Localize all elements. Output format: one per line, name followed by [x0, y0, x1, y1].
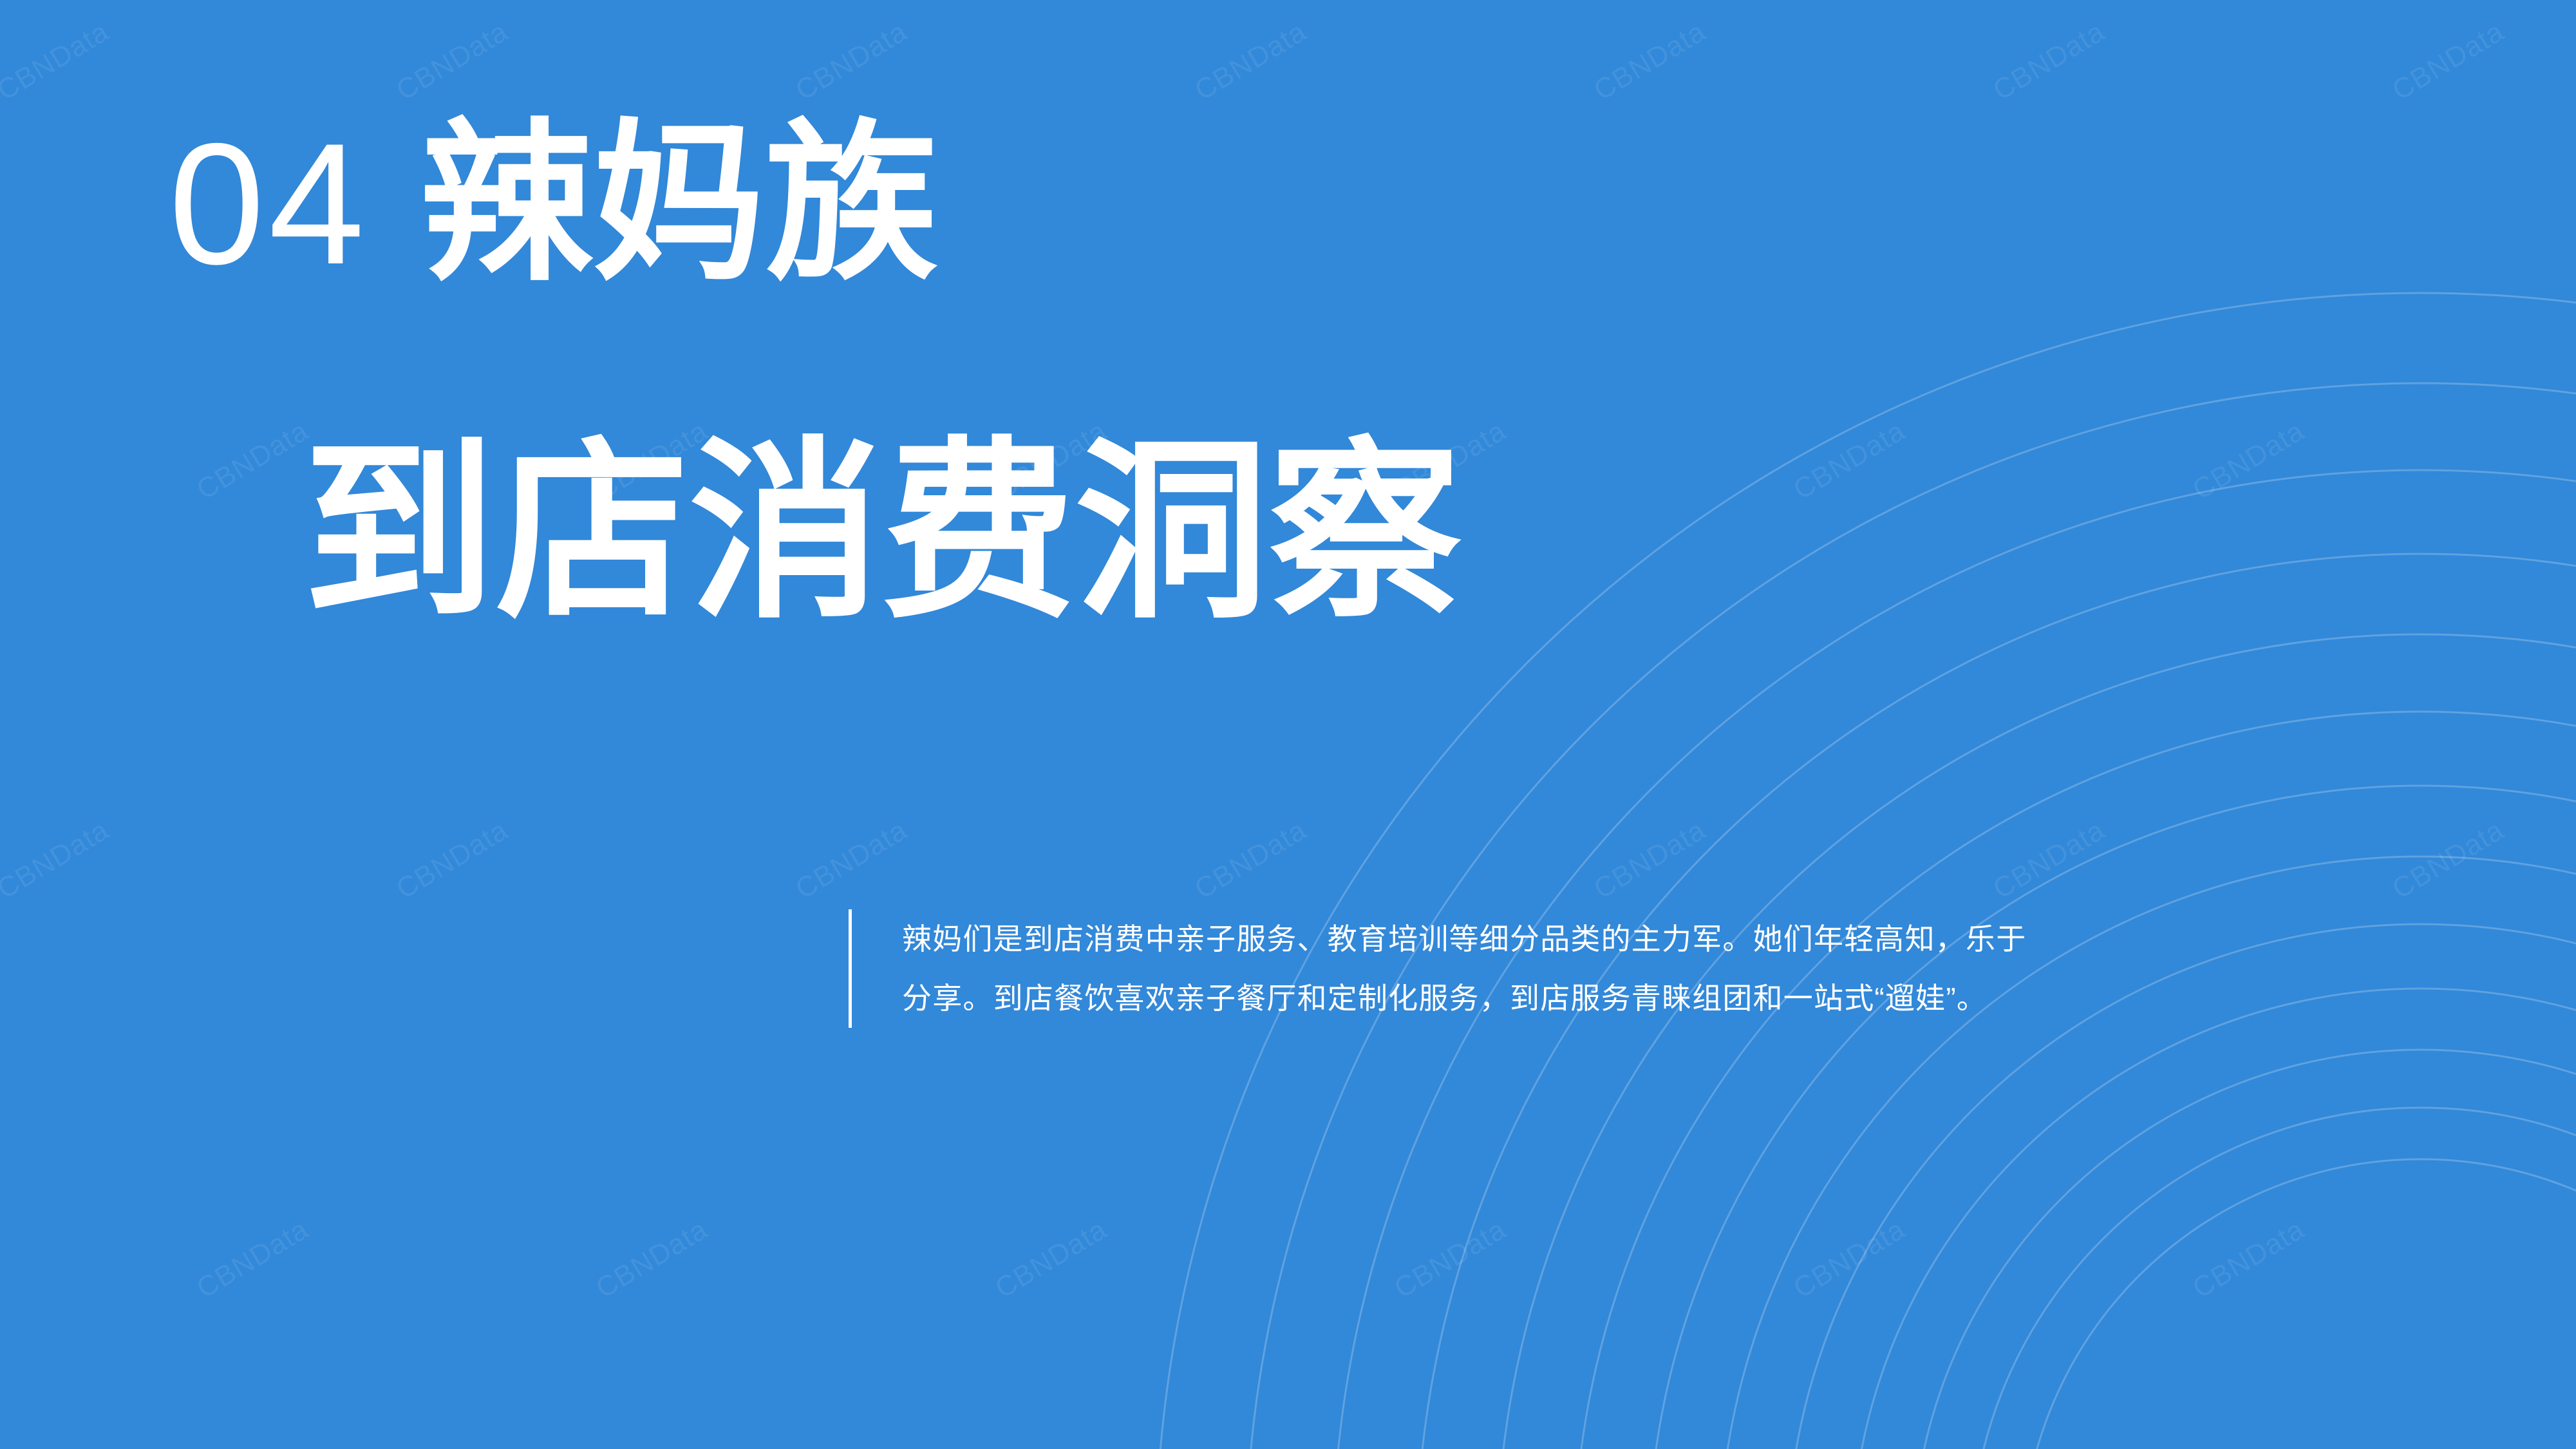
- watermark-text: CBNData: [1189, 814, 1312, 905]
- watermark-text: CBNData: [590, 1213, 713, 1305]
- watermark-text: CBNData: [1988, 814, 2111, 905]
- accent-rule: [849, 909, 852, 1028]
- watermark-text: CBNData: [790, 814, 913, 905]
- title-line-primary: 04辣妈族: [169, 117, 938, 290]
- watermark-text: CBNData: [0, 15, 115, 107]
- description-line-1: 辣妈们是到店消费中亲子服务、教育培训等细分品类的主力军。她们年轻高知，乐于: [902, 909, 2026, 969]
- watermark-text: CBNData: [1788, 415, 1911, 506]
- slide-root: CBNDataCBNDataCBNDataCBNDataCBNDataCBNDa…: [0, 0, 2576, 1449]
- watermark-text: CBNData: [2187, 1213, 2310, 1305]
- watermark-text: CBNData: [1988, 15, 2111, 107]
- title-line-1-cjk: 辣妈族: [420, 107, 938, 300]
- watermark-text: CBNData: [1189, 15, 1312, 107]
- watermark-text: CBNData: [191, 415, 314, 506]
- watermark-text: CBNData: [391, 814, 514, 905]
- watermark-text: CBNData: [2387, 15, 2510, 107]
- watermark-text: CBNData: [0, 814, 115, 905]
- section-number: 04: [169, 107, 368, 300]
- watermark-text: CBNData: [1389, 1213, 1512, 1305]
- watermark-text: CBNData: [790, 15, 913, 107]
- description-line-2: 分享。到店餐饮喜欢亲子餐厅和定制化服务，到店服务青睐组团和一站式“遛娃”。: [902, 969, 2026, 1028]
- watermark-text: CBNData: [1588, 814, 1711, 905]
- description-text: 辣妈们是到店消费中亲子服务、教育培训等细分品类的主力军。她们年轻高知，乐于 分享…: [902, 909, 2026, 1028]
- watermark-text: CBNData: [391, 15, 514, 107]
- watermark-text: CBNData: [2387, 814, 2510, 905]
- watermark-text: CBNData: [990, 1213, 1113, 1305]
- description-block: 辣妈们是到店消费中亲子服务、教育培训等细分品类的主力军。她们年轻高知，乐于 分享…: [849, 909, 2026, 1028]
- watermark-text: CBNData: [1788, 1213, 1911, 1305]
- watermark-text: CBNData: [1588, 15, 1711, 107]
- title-line-secondary: 到店消费洞察: [303, 435, 1462, 629]
- watermark-text: CBNData: [191, 1213, 314, 1305]
- watermark-text: CBNData: [2187, 415, 2310, 506]
